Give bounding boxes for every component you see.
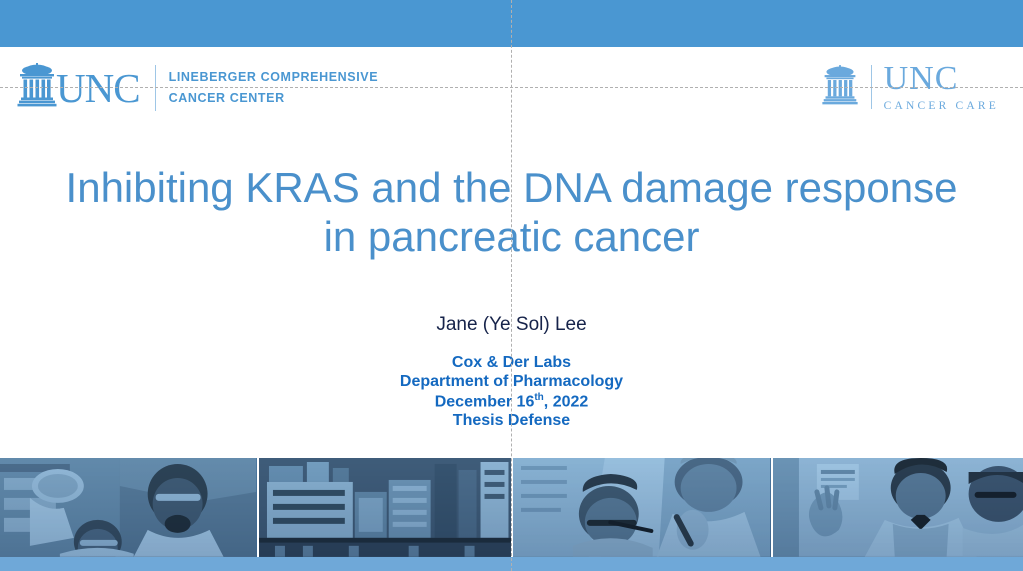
vertical-center-guide: [511, 0, 512, 571]
date-year: , 2022: [544, 393, 588, 410]
photo-physician-discussion: [771, 458, 1023, 557]
horizontal-guide: [0, 87, 1023, 88]
photo-blue-tint: [513, 458, 771, 557]
presentation-title-slide: UNC LINEBERGER COMPREHENSIVE CANCER CENT…: [0, 0, 1023, 571]
date-main: December 16: [435, 393, 535, 410]
date-ordinal-suffix: th: [534, 392, 543, 403]
photo-blue-tint: [0, 458, 257, 557]
photo-cancer-center-building: [257, 458, 512, 557]
cancer-care-subtitle: CANCER CARE: [884, 100, 999, 112]
lineberger-line-1: LINEBERGER COMPREHENSIVE: [169, 70, 379, 84]
lineberger-line-2: CANCER CENTER: [169, 91, 285, 105]
unc-wordmark-right: UNC: [884, 62, 999, 96]
photo-blue-tint: [259, 458, 512, 557]
photo-blue-tint: [773, 458, 1023, 557]
unc-wordmark-left: UNC: [56, 68, 140, 109]
photo-lab-researchers: [0, 458, 257, 557]
photo-clinician-and-patient: [511, 458, 771, 557]
